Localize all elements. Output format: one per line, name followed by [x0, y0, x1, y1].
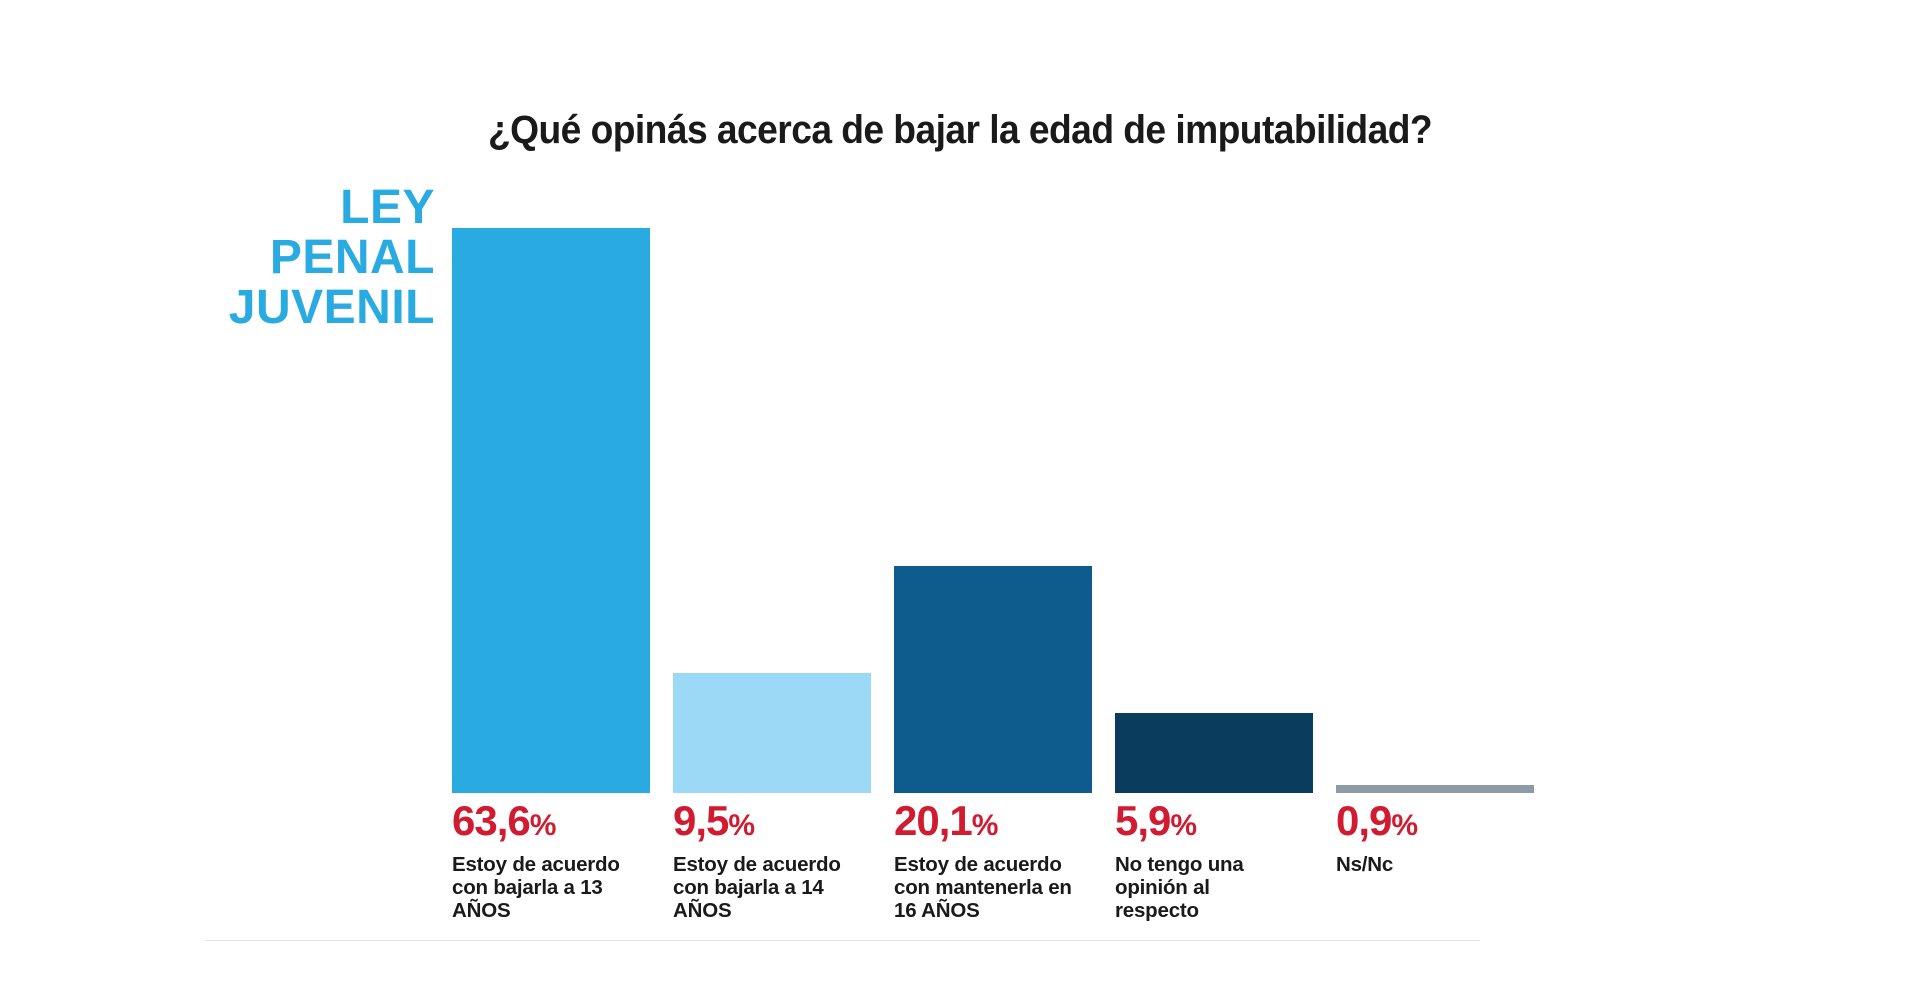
bar-estoy-de-acuerdo-13-anos [452, 228, 650, 793]
bar-estoy-de-acuerdo-mantener-16-anos [894, 566, 1092, 793]
category-caption-1: Estoy de acuerdo con bajarla a 13 AÑOS [452, 853, 657, 922]
label-column-3: 20,1% Estoy de acuerdo con mantenerla en… [894, 800, 1099, 922]
brand-label-line-3: JUVENIL [130, 283, 435, 333]
bar-no-tengo-opinion [1115, 713, 1313, 793]
brand-label-line-2: PENAL [130, 233, 435, 283]
category-caption-2: Estoy de acuerdo con bajarla a 14 AÑOS [673, 853, 878, 922]
brand-label: LEY PENAL JUVENIL [130, 183, 435, 333]
label-column-4: 5,9% No tengo una opinión al respecto [1115, 800, 1295, 922]
percent-sign: % [1170, 809, 1196, 842]
bar-chart-plot-area [452, 180, 1572, 793]
value-label-4: 5,9% [1115, 800, 1295, 847]
percent-sign: % [728, 809, 754, 842]
label-column-1: 63,6% Estoy de acuerdo con bajarla a 13 … [452, 800, 657, 922]
category-caption-4: No tengo una opinión al respecto [1115, 853, 1295, 922]
value-label-1: 63,6% [452, 800, 657, 847]
category-caption-5: Ns/Nc [1336, 853, 1541, 876]
infographic-canvas: ¿Qué opinás acerca de bajar la edad de i… [0, 0, 1920, 1007]
category-caption-3: Estoy de acuerdo con mantenerla en 16 AÑ… [894, 853, 1099, 922]
percent-sign: % [530, 809, 556, 842]
bar-ns-nc [1336, 785, 1534, 793]
value-label-2: 9,5% [673, 800, 878, 847]
percent-sign: % [1391, 809, 1417, 842]
footer-divider [205, 940, 1480, 941]
value-label-3: 20,1% [894, 800, 1099, 847]
label-column-2: 9,5% Estoy de acuerdo con bajarla a 14 A… [673, 800, 878, 922]
value-label-5: 0,9% [1336, 800, 1541, 847]
label-column-5: 0,9% Ns/Nc [1336, 800, 1541, 876]
brand-label-line-1: LEY [130, 183, 435, 233]
bar-estoy-de-acuerdo-14-anos [673, 673, 871, 793]
bar-labels-row: 63,6% Estoy de acuerdo con bajarla a 13 … [452, 800, 1652, 940]
percent-sign: % [972, 809, 998, 842]
page-title: ¿Qué opinás acerca de bajar la edad de i… [67, 108, 1853, 153]
